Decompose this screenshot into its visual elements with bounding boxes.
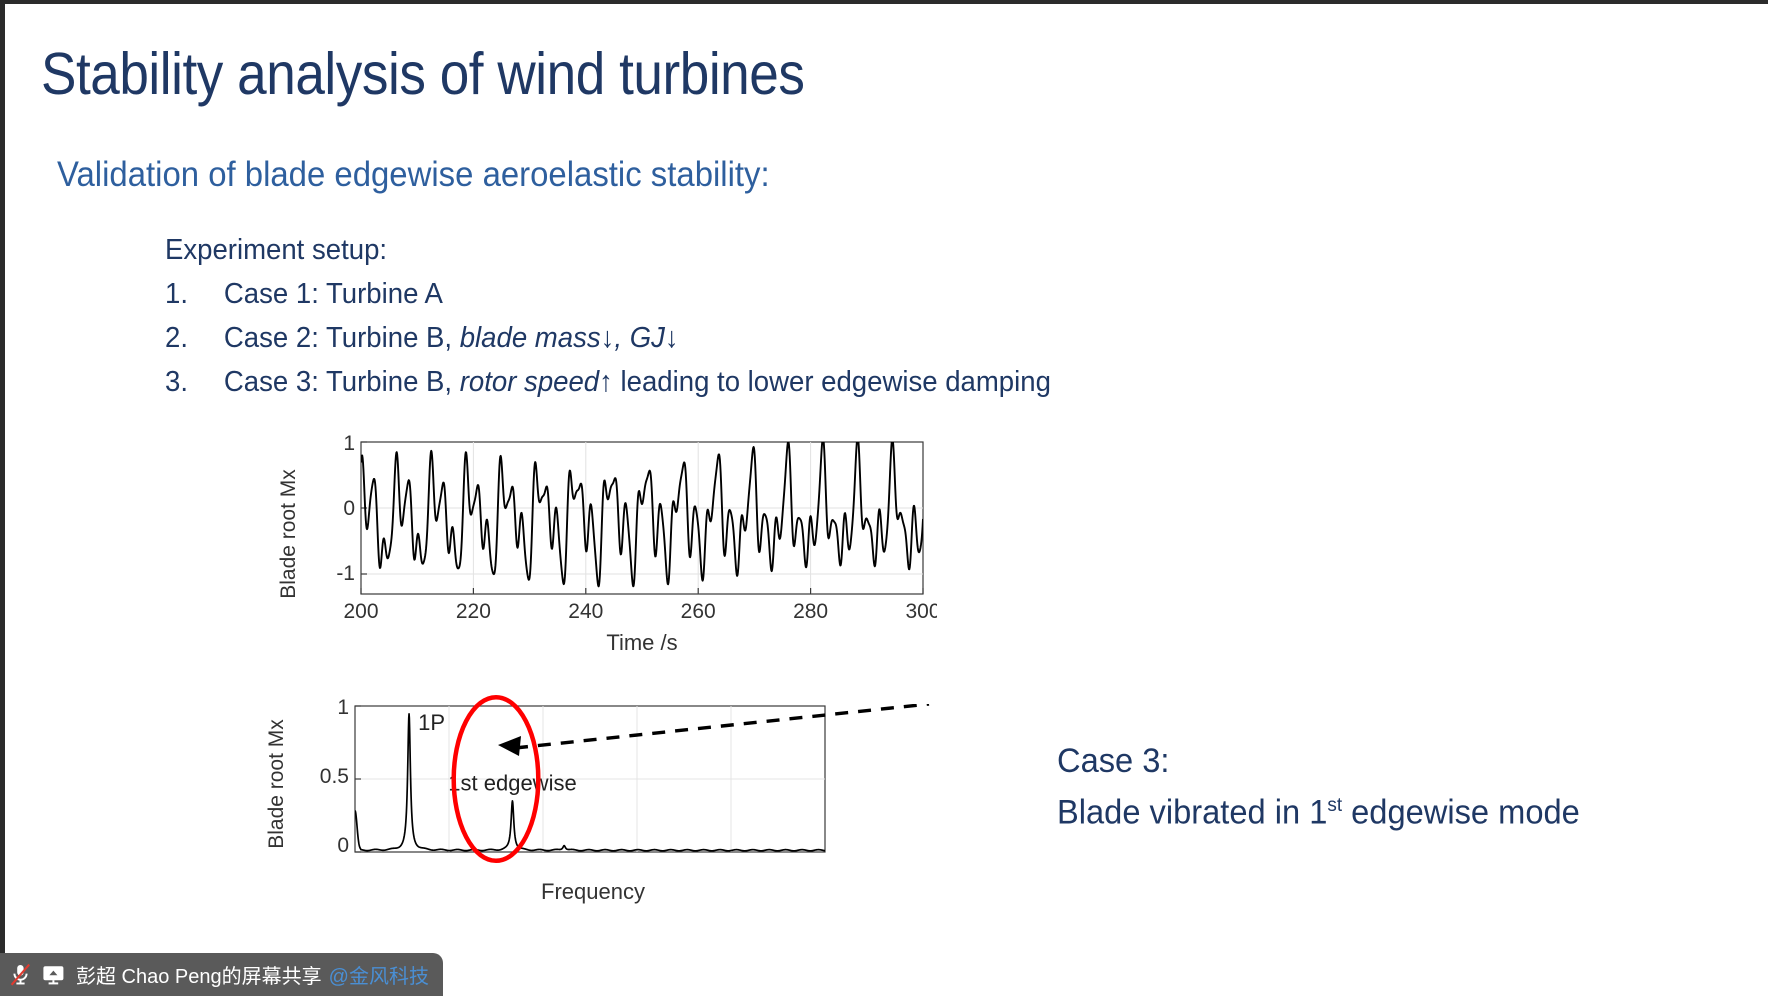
svg-text:1: 1 [343,432,355,455]
spectrum-x-axis-label: Frequency [541,879,645,904]
list-item-text-post: leading to lower edgewise damping [613,366,1051,398]
case3-annotation-line2-post: edgewise mode [1342,793,1580,831]
spectrum-chart: Blade root Mx 1 0.5 0 [263,684,943,944]
list-item-text-pre: Case 3: Turbine B, [224,366,460,398]
svg-text:0: 0 [343,497,355,520]
subtitle: Validation of blade edgewise aeroelastic… [57,154,770,196]
timeseries-x-tick-label: 220 [456,600,491,623]
list-item-text: Case 2: Turbine B, blade mass↓, GJ↓ [224,317,679,359]
timeseries-x-axis-label: Time /s [606,630,677,655]
case3-annotation-line1: Case 3: [1057,739,1580,783]
list-item: 1. Case 1: Turbine A [165,273,1051,315]
spectrum-peak-label-1p: 1P [418,710,445,735]
spectrum-peak-label-edgewise: 1st edgewise [448,770,576,795]
case3-annotation-line2-pre: Blade vibrated in 1 [1057,793,1327,831]
timeseries-x-tick-label: 200 [343,600,378,623]
timeseries-y-ticks: 1 0 -1 [336,432,355,585]
list-item-text-emphasis: blade mass↓, GJ↓ [460,322,679,354]
list-item-text: Case 3: Turbine B, rotor speed↑ leading … [224,361,1051,403]
list-item-number: 3. [165,361,224,403]
list-item-text-emphasis: rotor speed↑ [460,366,613,398]
list-item-text-pre: Case 1: Turbine A [224,278,443,310]
screen-share-icon[interactable] [42,964,65,985]
share-status-text: 彭超 Chao Peng的屏幕共享 [76,960,322,989]
bullet-heading: Experiment setup: [165,229,1051,271]
slide-canvas: Stability analysis of wind turbines Vali… [5,4,1768,1000]
list-item-text: Case 1: Turbine A [224,273,443,315]
page-title: Stability analysis of wind turbines [41,42,804,106]
list-item: 3. Case 3: Turbine B, rotor speed↑ leadi… [165,361,1051,403]
timeseries-y-axis-label: Blade root Mx [277,469,300,599]
svg-text:0.5: 0.5 [320,765,349,788]
timeseries-x-tick-label: 240 [568,600,603,623]
experiment-setup-block: Experiment setup: 1. Case 1: Turbine A 2… [165,229,1051,405]
svg-text:-1: -1 [336,562,355,585]
spectrum-y-ticks: 1 0.5 0 [320,696,349,857]
timeseries-x-tick-label: 260 [681,600,716,623]
list-item-number: 2. [165,317,224,359]
list-item-number: 1. [165,273,224,315]
screen-share-status-bar: 彭超 Chao Peng的屏幕共享 @金风科技 [0,953,443,996]
svg-text:1: 1 [337,696,349,719]
timeseries-x-ticks: 200220240260280300 [343,600,937,623]
list-item: 2. Case 2: Turbine B, blade mass↓, GJ↓ [165,317,1051,359]
slide-frame: Stability analysis of wind turbines Vali… [0,0,1768,996]
svg-text:0: 0 [337,834,349,857]
case3-annotation: Case 3: Blade vibrated in 1st edgewise m… [1057,739,1580,834]
case3-annotation-line2: Blade vibrated in 1st edgewise mode [1057,783,1580,834]
share-status-org: @金风科技 [329,960,429,989]
microphone-muted-icon[interactable] [10,963,31,987]
timeseries-plot-frame [361,442,923,594]
timeseries-x-tick-label: 300 [905,600,937,623]
case3-annotation-ordinal-suffix: st [1327,794,1342,816]
timeseries-x-tick-label: 280 [793,600,828,623]
timeseries-chart: Blade root Mx 1 0 -1 [277,424,937,684]
spectrum-y-axis-label: Blade root Mx [265,719,288,849]
list-item-text-pre: Case 2: Turbine B, [224,322,460,354]
